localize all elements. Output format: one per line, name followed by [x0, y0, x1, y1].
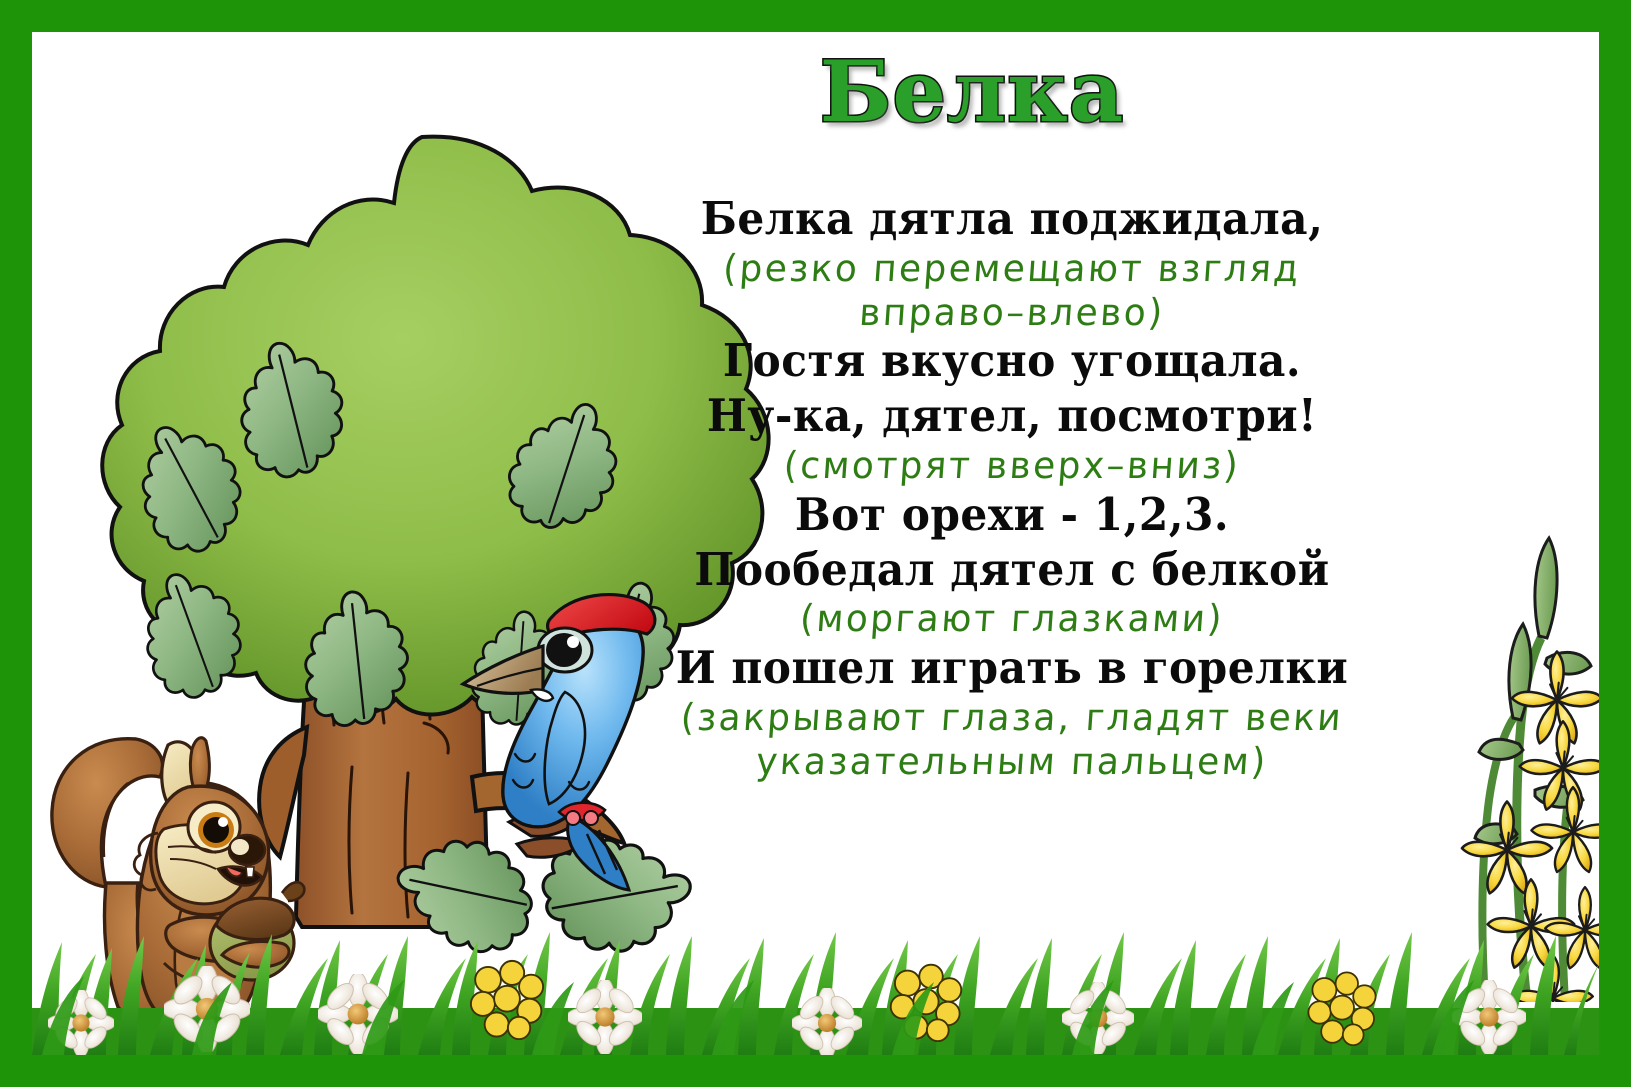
poem-line: И пошел играть в горелки	[674, 641, 1351, 696]
poem-line: (резко перемещают взгляд	[661, 247, 1362, 291]
poem-line: Ну-ка, дятел, посмотри!	[674, 389, 1351, 444]
poem-line: Вот орехи - 1,2,3.	[674, 488, 1351, 543]
poem-text-block: Белка дятла поджидала, (резко перемещают…	[652, 192, 1372, 783]
poem-line: (моргают глазками)	[661, 597, 1362, 641]
woodpecker-eye	[538, 628, 592, 672]
poem-line: вправо–влево)	[661, 291, 1362, 335]
poem-line: Гостя вкусно угощала.	[674, 334, 1351, 389]
poem-line: (смотрят вверх–вниз)	[661, 444, 1362, 488]
poem-line: Белка дятла поджидала,	[674, 192, 1351, 247]
woodpecker-beak	[463, 646, 553, 701]
grass-border-illustration	[32, 870, 1599, 1055]
poster-canvas: Белка Белка дятла поджидала, (резко пере…	[32, 32, 1599, 1055]
poem-line: (закрывают глаза, гладят веки	[661, 696, 1362, 740]
page-title: Белка	[652, 50, 1292, 134]
poster-frame: Белка Белка дятла поджидала, (резко пере…	[0, 0, 1631, 1087]
poem-line: Пообедал дятел с белкой	[674, 543, 1351, 598]
poem-line: указательным пальцем)	[661, 740, 1362, 784]
